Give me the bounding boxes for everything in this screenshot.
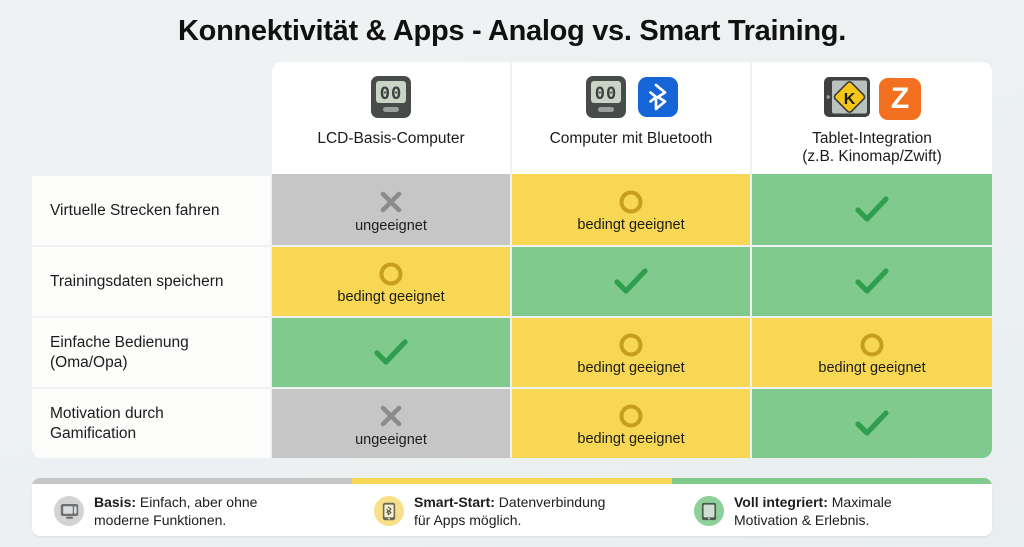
cross-icon <box>376 187 406 217</box>
column-header-lcd-icons: 00 <box>368 75 414 123</box>
cell-rating-text: bedingt geeignet <box>577 431 684 447</box>
legend-item-basis-text: Basis: Einfach, aber ohne moderne Funkti… <box>94 493 257 529</box>
legend-color-bar <box>32 478 992 484</box>
legend-item-basis-title: Basis: <box>94 494 140 510</box>
check-icon <box>852 264 892 298</box>
column-header-tablet-sublabel: (z.B. Kinomap/Zwift) <box>802 148 942 166</box>
legend-item-basis: Basis: Einfach, aber ohne moderne Funkti… <box>32 478 352 536</box>
cell-rating-text: ungeeignet <box>355 218 427 234</box>
row-label-line1: Einfache Bedienung <box>50 334 189 351</box>
cell-rating[interactable]: ungeeignet <box>272 387 512 458</box>
legend-item-smart-start-title: Smart-Start: <box>414 494 499 510</box>
comparison-table: 00 LCD-Basis-Computer 00 <box>32 62 992 458</box>
cell-rating[interactable]: bedingt geeignet <box>272 245 512 316</box>
legend-panel: Basis: Einfach, aber ohne moderne Funkti… <box>32 478 992 536</box>
cell-rating[interactable]: bedingt geeignet <box>512 316 752 387</box>
check-icon <box>371 335 411 369</box>
cell-rating-text: bedingt geeignet <box>577 217 684 233</box>
legend-bar-segment-gray <box>32 478 352 484</box>
check-icon <box>611 264 651 298</box>
cell-rating[interactable] <box>512 245 752 316</box>
legend-item-smart-start-line1: Datenverbindung <box>499 494 606 510</box>
legend-item-voll-integriert-line1: Maximale <box>832 494 892 510</box>
column-header-tablet[interactable]: K Z Tablet-Integration (z.B. Kinomap/Zwi… <box>752 62 992 174</box>
circle-icon <box>617 331 645 359</box>
cell-rating[interactable] <box>752 387 992 458</box>
row-label-line1: Motivation durch <box>50 405 164 422</box>
cell-rating-text: bedingt geeignet <box>818 360 925 376</box>
row-label-line2: Gamification <box>50 425 136 442</box>
legend-item-basis-line1: Einfach, aber ohne <box>140 494 258 510</box>
lcd-computer-icon: 00 <box>368 75 414 124</box>
circle-icon <box>617 188 645 216</box>
legend-item-smart-start-text: Smart-Start: Datenverbindung für Apps mö… <box>414 493 605 529</box>
cell-rating-text: bedingt geeignet <box>337 289 444 305</box>
circle-icon <box>377 260 405 288</box>
tablet-kinomap-icon: K <box>823 76 871 123</box>
legend-item-smart-start-line2: für Apps möglich. <box>414 512 521 528</box>
table-row: Einfache Bedienung (Oma/Opa) bedingt gee… <box>32 316 992 387</box>
table-row: Trainingsdaten speichern bedingt geeigne… <box>32 245 992 316</box>
cell-rating[interactable]: bedingt geeignet <box>512 174 752 245</box>
table-header-row: 00 LCD-Basis-Computer 00 <box>32 62 992 174</box>
column-header-bluetooth-icons: 00 <box>583 75 679 123</box>
zwift-icon: Z <box>879 78 921 120</box>
row-label: Einfache Bedienung (Oma/Opa) <box>32 316 272 387</box>
cell-rating[interactable]: bedingt geeignet <box>752 316 992 387</box>
row-label-line2: (Oma/Opa) <box>50 354 128 371</box>
column-header-lcd[interactable]: 00 LCD-Basis-Computer <box>272 62 512 174</box>
check-icon <box>852 406 892 440</box>
monitor-icon <box>54 496 84 526</box>
cell-rating-text: bedingt geeignet <box>577 360 684 376</box>
cross-icon <box>376 401 406 431</box>
cell-rating[interactable]: bedingt geeignet <box>512 387 752 458</box>
svg-text:00: 00 <box>595 84 617 104</box>
legend-bar-segment-green <box>672 478 992 484</box>
row-label: Trainingsdaten speichern <box>32 245 272 316</box>
header-corner-spacer <box>32 62 272 174</box>
legend-item-voll-integriert-title: Voll integriert: <box>734 494 832 510</box>
column-header-tablet-label: Tablet-Integration (z.B. Kinomap/Zwift) <box>802 130 942 167</box>
column-header-tablet-icons: K Z <box>823 75 921 123</box>
row-label: Virtuelle Strecken fahren <box>32 174 272 245</box>
column-header-bluetooth-label: Computer mit Bluetooth <box>550 130 713 148</box>
column-header-bluetooth[interactable]: 00 Computer mit Bluetooth <box>512 62 752 174</box>
cell-rating[interactable] <box>752 174 992 245</box>
cell-rating[interactable]: ungeeignet <box>272 174 512 245</box>
legend-bar-segment-yellow <box>352 478 672 484</box>
legend-item-voll-integriert-line2: Motivation & Erlebnis. <box>734 512 869 528</box>
lcd-computer-icon: 00 <box>583 75 629 124</box>
check-icon <box>852 192 892 226</box>
circle-icon <box>858 331 886 359</box>
cell-rating-text: ungeeignet <box>355 432 427 448</box>
row-label: Motivation durch Gamification <box>32 387 272 458</box>
legend-item-basis-line2: moderne Funktionen. <box>94 512 226 528</box>
legend-item-smart-start: Smart-Start: Datenverbindung für Apps mö… <box>352 478 672 536</box>
page-title: Konnektivität & Apps - Analog vs. Smart … <box>0 0 1024 49</box>
legend-item-voll-integriert: Voll integriert: Maximale Motivation & E… <box>672 478 992 536</box>
circle-icon <box>617 402 645 430</box>
bluetooth-icon <box>637 76 679 123</box>
cell-rating[interactable] <box>752 245 992 316</box>
table-row: Motivation durch Gamification ungeeignet… <box>32 387 992 458</box>
phone-bluetooth-icon <box>374 496 404 526</box>
table-row: Virtuelle Strecken fahren ungeeignet bed… <box>32 174 992 245</box>
tablet-icon <box>694 496 724 526</box>
svg-text:K: K <box>844 91 856 108</box>
column-header-lcd-label: LCD-Basis-Computer <box>317 130 464 148</box>
svg-text:00: 00 <box>380 84 402 104</box>
cell-rating[interactable] <box>272 316 512 387</box>
legend-item-voll-integriert-text: Voll integriert: Maximale Motivation & E… <box>734 493 892 529</box>
